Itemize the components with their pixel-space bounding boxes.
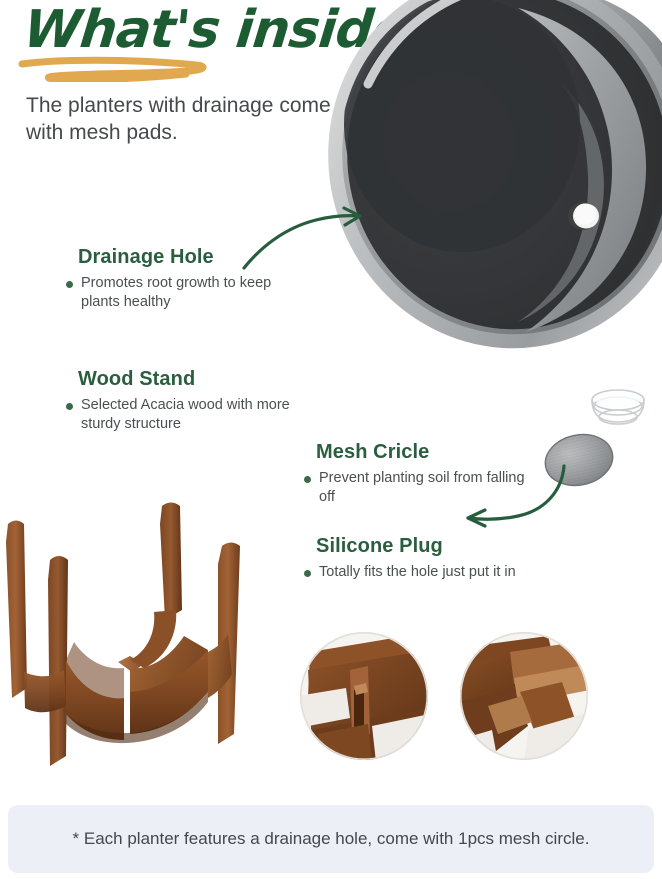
feature-text: Totally fits the hole just put it in xyxy=(319,563,516,582)
feature-mesh-circle: Mesh Cricle Prevent planting soil from f… xyxy=(316,441,531,508)
feature-silicone-plug: Silicone Plug Totally fits the hole just… xyxy=(316,535,536,582)
footer-note-panel: * Each planter features a drainage hole,… xyxy=(8,805,654,873)
feature-text: Selected Acacia wood with more sturdy st… xyxy=(81,396,313,435)
detail-photo-joint-assembled xyxy=(458,630,590,762)
title-underline-swoosh xyxy=(18,56,228,82)
feature-text: Prevent planting soil from falling off xyxy=(319,469,531,508)
feature-wood-stand: Wood Stand Selected Acacia wood with mor… xyxy=(78,368,313,435)
bullet-icon xyxy=(304,570,311,577)
feature-title: Silicone Plug xyxy=(316,535,536,557)
bullet-icon xyxy=(66,403,73,410)
feature-title: Drainage Hole xyxy=(78,246,308,268)
footer-note: * Each planter features a drainage hole,… xyxy=(33,827,630,851)
page-subtitle: The planters with drainage come with mes… xyxy=(26,92,336,147)
detail-photo-joint-slot xyxy=(298,630,430,762)
feature-title: Mesh Cricle xyxy=(316,441,531,463)
feature-drainage-hole: Drainage Hole Promotes root growth to ke… xyxy=(78,246,308,313)
wood-stand-image xyxy=(0,492,294,792)
feature-title: Wood Stand xyxy=(78,368,313,390)
planter-pot-image xyxy=(312,0,662,364)
feature-text: Promotes root growth to keep plants heal… xyxy=(81,274,308,313)
bullet-icon xyxy=(66,281,73,288)
infographic-canvas: What's inside? The planters with drainag… xyxy=(0,0,662,879)
bullet-icon xyxy=(304,476,311,483)
